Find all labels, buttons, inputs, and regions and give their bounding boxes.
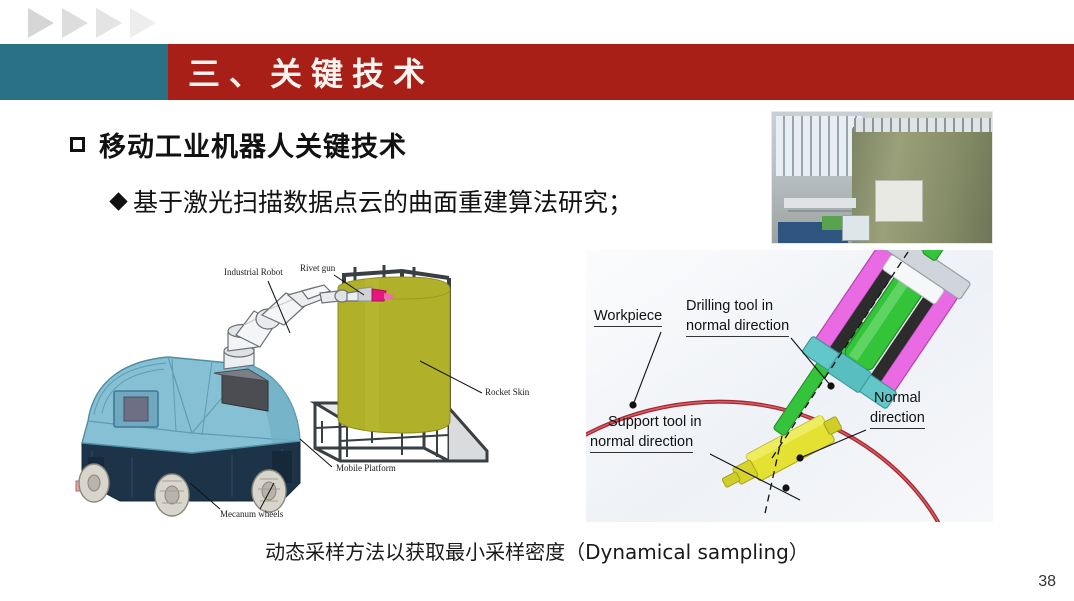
label-rivet-gun: Rivet gun (300, 263, 335, 273)
section-subheading: 基于激光扫描数据点云的曲面重建算法研究； (112, 183, 633, 219)
label-normal-line2: direction (870, 410, 925, 429)
figure-normal-direction-tools: Workpiece Drilling tool in normal direct… (586, 250, 993, 522)
figure-normal-direction-drawing (586, 250, 993, 522)
label-workpiece: Workpiece (594, 308, 662, 327)
slide-title: 三、关键技术 (188, 49, 434, 95)
label-drilling-tool-line2: normal direction (686, 318, 789, 337)
label-drilling-tool-line1: Drilling tool in (686, 298, 773, 315)
slide-header-band: 三、关键技术 (0, 44, 1074, 100)
header-red-block: 三、关键技术 (168, 44, 1074, 100)
figure-caption: 动态采样方法以获取最小采样密度（Dynamical sampling） (0, 536, 1074, 565)
header-teal-block (0, 44, 168, 100)
diamond-bullet-icon (109, 192, 127, 210)
page-number: 38 (1038, 573, 1056, 591)
photo-monitor (842, 215, 870, 241)
arrow-right-icon-4 (130, 8, 156, 38)
arrow-right-icon-3 (96, 8, 122, 38)
photo-green-box (822, 216, 844, 230)
section-heading-text: 移动工业机器人关键技术 (99, 125, 407, 164)
workshop-photo (771, 111, 993, 244)
label-mobile-platform: Mobile Platform (336, 463, 396, 473)
label-support-tool-line2: normal direction (590, 434, 693, 453)
section-heading: 移动工业机器人关键技术 (70, 125, 407, 164)
label-mecanum-wheels: Mecanum wheels (220, 509, 283, 519)
arrow-right-icon-1 (28, 8, 54, 38)
decorative-arrow-strip (28, 8, 156, 38)
photo-window (776, 116, 862, 176)
label-support-tool-line1: Support tool in (608, 414, 702, 431)
arrow-right-icon-2 (62, 8, 88, 38)
section-subheading-text: 基于激光扫描数据点云的曲面重建算法研究； (133, 183, 633, 219)
label-rocket-skin: Rocket Skin (485, 387, 529, 397)
label-industrial-robot: Industrial Robot (224, 267, 283, 277)
label-normal-line1: Normal (874, 390, 921, 407)
photo-white-panel (875, 180, 923, 222)
figure-mobile-robot: Industrial Robot Rivet gun Rocket Skin M… (72, 243, 572, 533)
square-bullet-icon (70, 137, 85, 152)
photo-ceiling-rail (854, 118, 993, 132)
photo-table (784, 198, 856, 208)
